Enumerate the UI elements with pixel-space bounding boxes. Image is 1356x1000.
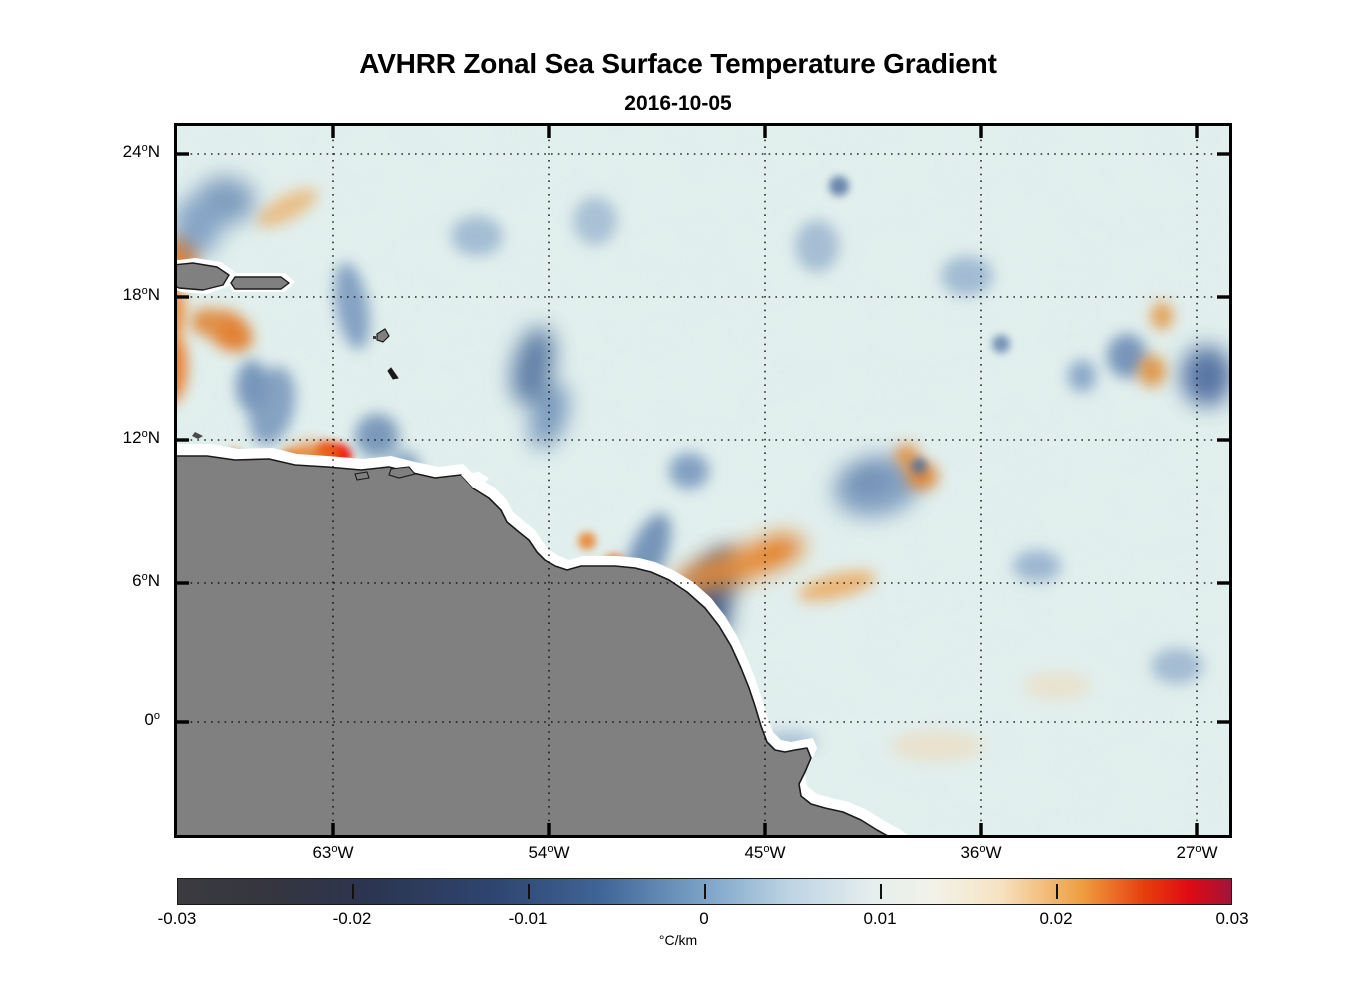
colorbar-label-3: 0 [644,909,764,929]
ytick-label-4: 0o [144,710,160,730]
colorbar-tick-2 [528,884,530,899]
colorbar-tick-4 [880,884,882,899]
colorbar-units-label: °C/km [0,932,1356,948]
colorbar-tick-1 [352,884,354,899]
grenada-islet [355,472,369,480]
colorbar-tick-5 [1056,884,1058,899]
colorbar-label-5: 0.02 [996,909,1116,929]
colorbar-label-0: -0.03 [117,909,237,929]
xtick-label-3: 36oW [921,843,1041,863]
ytick-label-1: 18oN [123,285,160,305]
figure-canvas: AVHRR Zonal Sea Surface Temperature Grad… [0,0,1356,1000]
colorbar-label-2: -0.01 [468,909,588,929]
ytick-label-2: 12oN [123,428,160,448]
colorbar-ticks [177,878,1232,905]
colorbar-label-6: 0.03 [1172,909,1292,929]
xtick-label-0: 63oW [273,843,393,863]
colorbar-tick-3 [704,884,706,899]
ytick-label-3: 6oN [132,571,160,591]
xtick-label-2: 45oW [705,843,825,863]
xtick-label-1: 54oW [489,843,609,863]
small-island-dot [373,336,376,339]
map-axes[interactable] [174,123,1232,838]
colorbar-label-1: -0.02 [292,909,412,929]
page-subtitle: 2016-10-05 [0,92,1356,116]
page-title: AVHRR Zonal Sea Surface Temperature Grad… [0,48,1356,80]
sst-gradient-heatmap [177,126,1229,835]
colorbar-label-4: 0.01 [820,909,940,929]
puerto-rico-landmass [231,277,289,289]
xtick-label-4: 27oW [1137,843,1257,863]
ytick-label-0: 24oN [123,142,160,162]
